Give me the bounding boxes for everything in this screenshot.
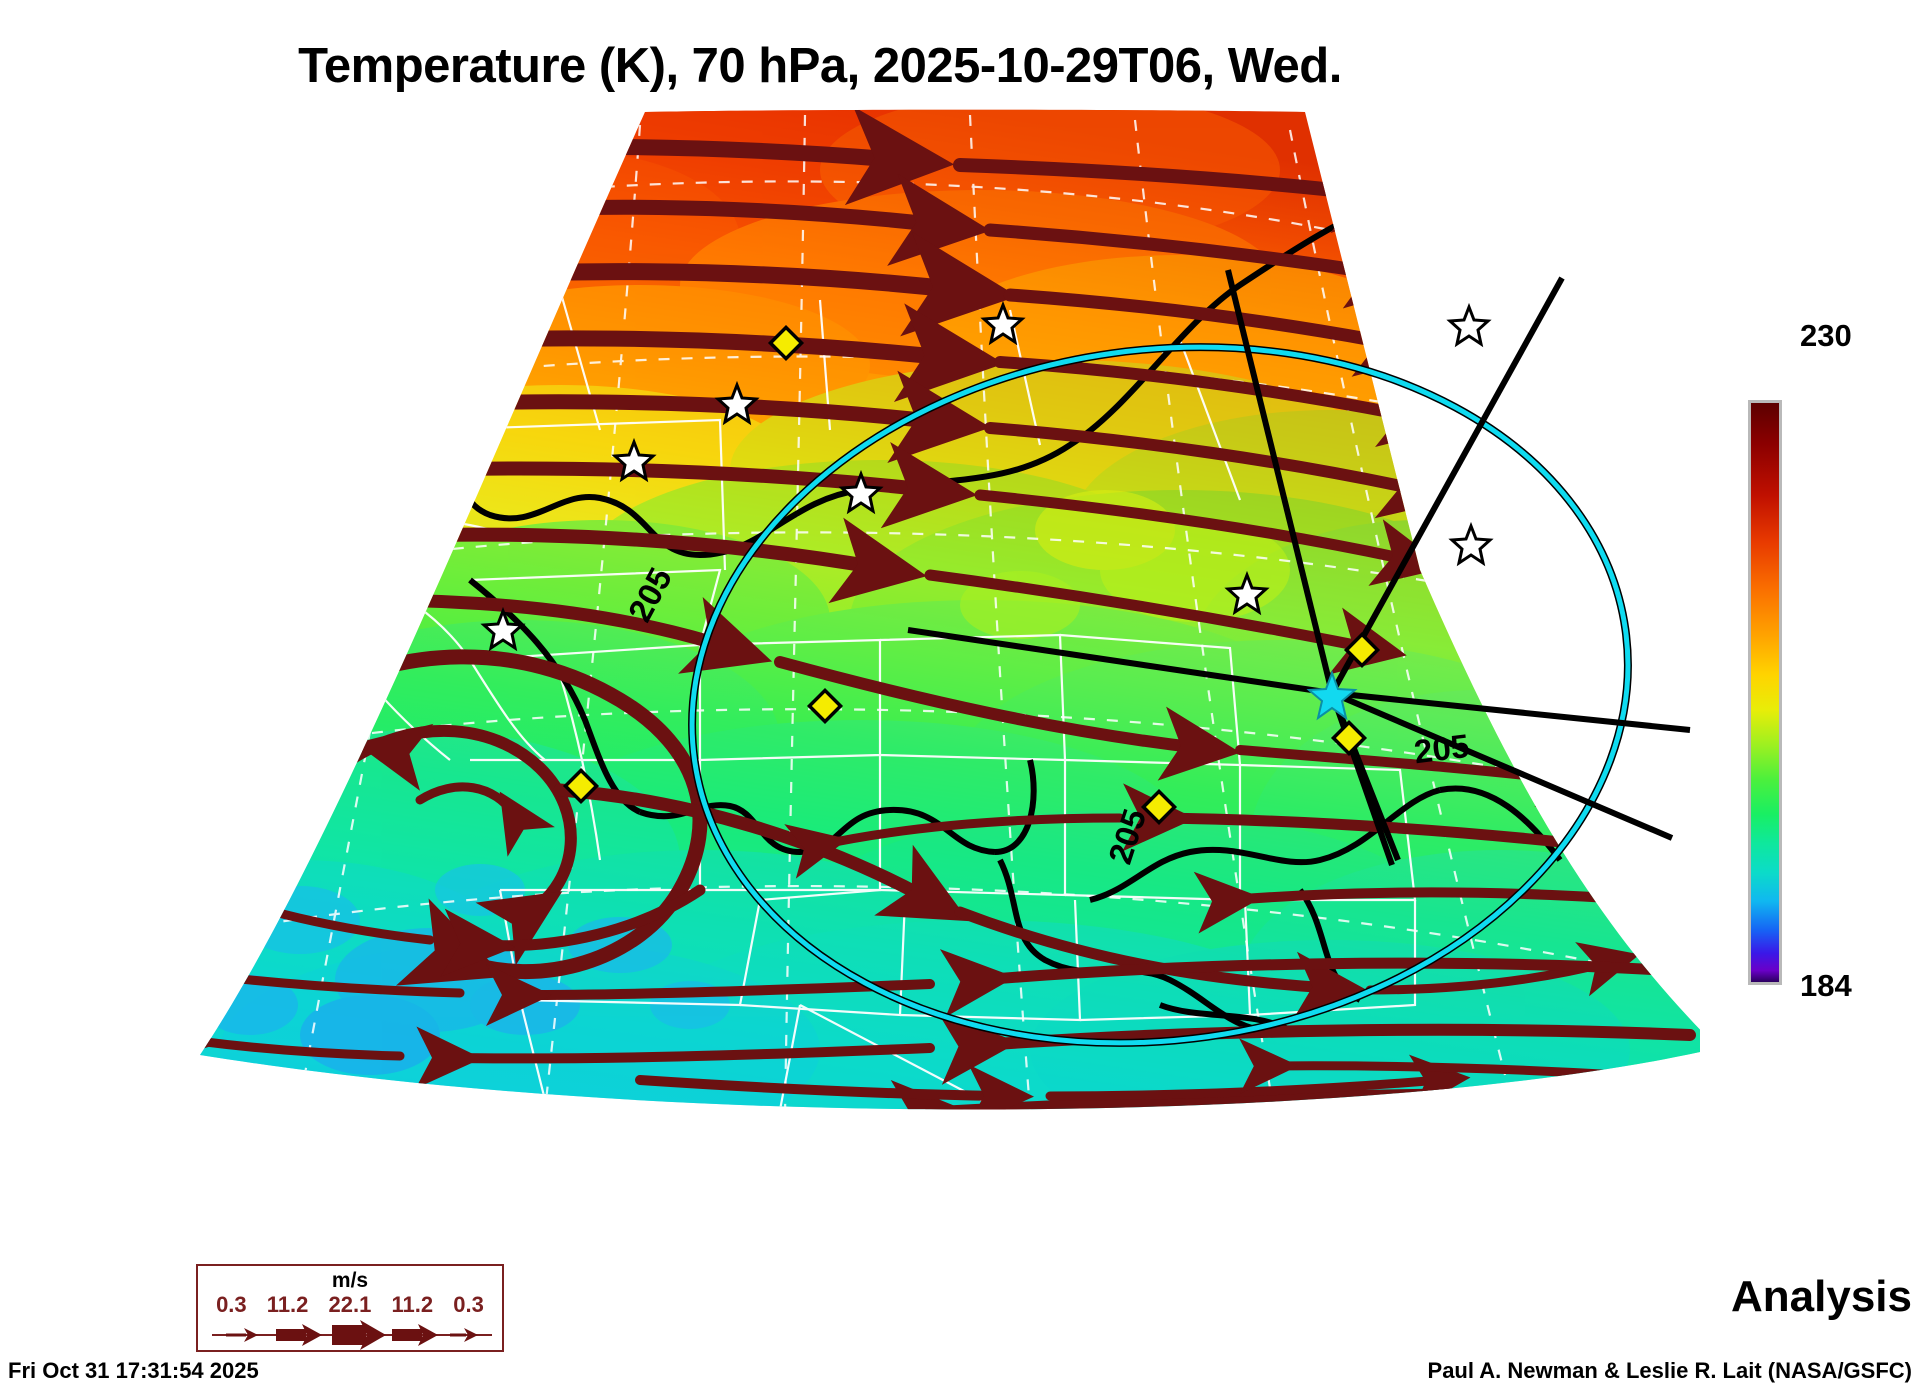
wind-tick: 22.1 [329, 1292, 372, 1318]
star-marker[interactable] [1452, 526, 1490, 563]
wind-tick: 0.3 [453, 1292, 484, 1318]
temperature-colorbar[interactable] [1748, 400, 1782, 985]
figure-root: Temperature (K), 70 hPa, 2025-10-29T06, … [0, 0, 1926, 1394]
author-credit: Paul A. Newman & Leslie R. Lait (NASA/GS… [1428, 1358, 1912, 1384]
wind-legend-arrows [198, 1318, 506, 1352]
figure-title: Temperature (K), 70 hPa, 2025-10-29T06, … [0, 38, 1640, 94]
wind-tick: 11.2 [392, 1292, 434, 1318]
product-type-label: Analysis [1731, 1272, 1912, 1322]
wind-speed-legend: m/s 0.3 11.2 22.1 11.2 0.3 [196, 1264, 504, 1352]
contour-label: 205 [1412, 727, 1471, 770]
colorbar-min-label: 184 [1800, 968, 1852, 1004]
map-panel[interactable]: 205 205 205 [0, 100, 1700, 1240]
wind-tick: 11.2 [267, 1292, 309, 1318]
wind-legend-ticks: 0.3 11.2 22.1 11.2 0.3 [198, 1292, 502, 1318]
star-marker[interactable] [1450, 307, 1488, 344]
map-svg[interactable]: 205 205 205 [0, 100, 1700, 1240]
wind-legend-units: m/s [198, 1269, 502, 1293]
wind-tick: 0.3 [216, 1292, 247, 1318]
colorbar-max-label: 230 [1800, 318, 1852, 354]
generation-timestamp: Fri Oct 31 17:31:54 2025 [8, 1358, 259, 1384]
